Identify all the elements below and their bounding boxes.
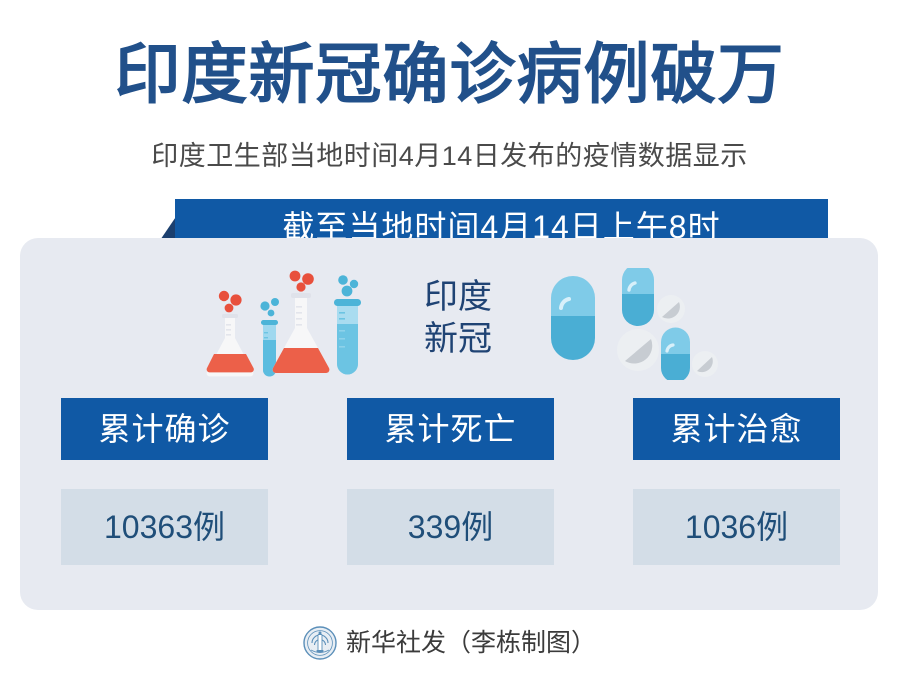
stat-header-confirmed: 累计确诊 — [61, 398, 268, 460]
stat-header-recovered: 累计治愈 — [633, 398, 840, 460]
capsule-pills-icon — [525, 268, 720, 380]
stat-value-recovered: 1036例 — [685, 508, 788, 546]
footer: 新华社发（李栋制图） — [0, 618, 899, 668]
stat-header-deaths: 累计死亡 — [347, 398, 554, 460]
center-label: 印度 新冠 — [403, 276, 513, 360]
stat-value-deaths: 339例 — [408, 508, 493, 546]
lab-flasks-icon — [193, 266, 373, 384]
center-label-line2: 新冠 — [403, 318, 513, 360]
stat-value-panel-recovered: 1036例 — [633, 489, 840, 565]
center-label-line1: 印度 — [403, 276, 513, 318]
stat-value-confirmed: 10363例 — [104, 508, 225, 546]
page-subtitle: 印度卫生部当地时间4月14日发布的疫情数据显示 — [0, 140, 899, 172]
stat-card-deaths: 累计死亡 339例 — [347, 398, 554, 460]
stat-label-recovered: 累计治愈 — [670, 411, 802, 447]
xinhua-agency-logo-icon — [303, 626, 337, 660]
page-title: 印度新冠确诊病例破万 — [0, 38, 899, 110]
stat-card-confirmed: 累计确诊 10363例 — [61, 398, 268, 460]
infographic-root: 印度新冠确诊病例破万 印度卫生部当地时间4月14日发布的疫情数据显示 截至当地时… — [0, 0, 899, 674]
footer-credit: 新华社发（李栋制图） — [346, 628, 596, 658]
illustration-row: 印度 新冠 — [20, 266, 878, 386]
header: 印度新冠确诊病例破万 印度卫生部当地时间4月14日发布的疫情数据显示 — [0, 0, 899, 190]
stat-value-panel-deaths: 339例 — [347, 489, 554, 565]
data-card: 印度 新冠 — [20, 238, 878, 610]
stats-row: 累计确诊 10363例 累计死亡 339例 累计治愈 103 — [20, 398, 878, 598]
stat-label-confirmed: 累计确诊 — [98, 411, 230, 447]
stat-label-deaths: 累计死亡 — [384, 411, 516, 447]
stat-card-recovered: 累计治愈 1036例 — [633, 398, 840, 460]
stat-value-panel-confirmed: 10363例 — [61, 489, 268, 565]
